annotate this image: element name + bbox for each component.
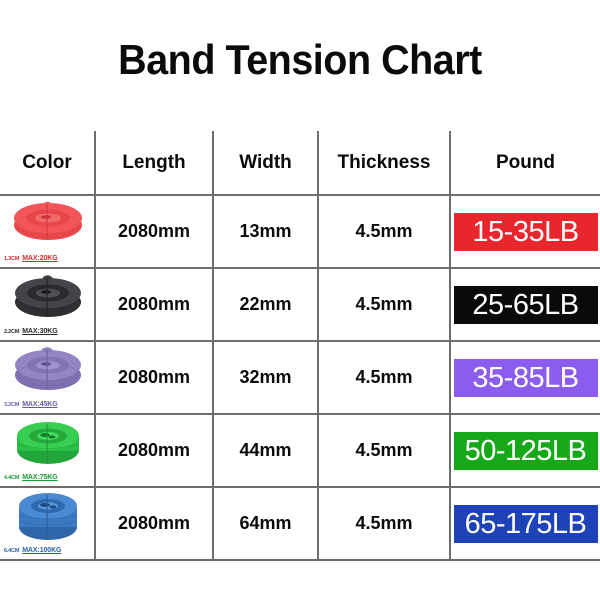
resistance-band-icon xyxy=(11,199,85,243)
table-row: 3.2CMMAX:45KG 2080mm 32mm 4.5mm 35-85LB xyxy=(0,341,600,414)
band-pound-cell: 65-175LB xyxy=(450,487,600,560)
column-header-color: Color xyxy=(0,131,95,195)
band-caption: 4.4CMMAX:75KG xyxy=(4,474,92,482)
band-thickness-cell: 4.5mm xyxy=(318,341,450,414)
band-length-cell: 2080mm xyxy=(95,195,213,268)
band-max-load: MAX:20KG xyxy=(22,255,57,262)
band-coil-image xyxy=(11,418,85,473)
band-pound-cell: 25-65LB xyxy=(450,268,600,341)
band-color-cell: 1.3CMMAX:20KG xyxy=(0,195,95,268)
band-caption: 1.3CMMAX:20KG xyxy=(4,255,92,263)
band-pound-cell: 50-125LB xyxy=(450,414,600,487)
band-width-cm: 4.4CM xyxy=(4,475,19,481)
band-width-cell: 64mm xyxy=(213,487,318,560)
band-caption: 6.4CMMAX:100KG xyxy=(4,547,92,555)
resistance-band-icon xyxy=(11,491,85,543)
band-coil-image xyxy=(11,345,85,398)
pound-badge: 50-125LB xyxy=(454,432,598,470)
band-color-cell: 3.2CMMAX:45KG xyxy=(0,341,95,414)
table-row: 6.4CMMAX:100KG 2080mm 64mm 4.5mm 65-175L… xyxy=(0,487,600,560)
band-tension-chart-page: Band Tension Chart Color Length Width Th… xyxy=(0,0,600,600)
resistance-band-icon xyxy=(11,345,85,393)
band-max-load: MAX:30KG xyxy=(22,328,57,335)
column-header-thickness: Thickness xyxy=(318,131,450,195)
band-width-cm: 3.2CM xyxy=(4,402,19,408)
table-row: 2.2CMMAX:30KG 2080mm 22mm 4.5mm 25-65LB xyxy=(0,268,600,341)
band-color-cell: 2.2CMMAX:30KG xyxy=(0,268,95,341)
band-color-cell: 4.4CMMAX:75KG xyxy=(0,414,95,487)
band-coil-image xyxy=(11,491,85,548)
band-length-cell: 2080mm xyxy=(95,268,213,341)
band-max-load: MAX:100KG xyxy=(22,547,61,554)
band-thickness-cell: 4.5mm xyxy=(318,195,450,268)
band-color-cell: 6.4CMMAX:100KG xyxy=(0,487,95,560)
band-width-cm: 6.4CM xyxy=(4,548,19,554)
column-header-length: Length xyxy=(95,131,213,195)
band-spec-table: Color Length Width Thickness Pound xyxy=(0,131,600,561)
band-length-cell: 2080mm xyxy=(95,341,213,414)
band-width-cell: 22mm xyxy=(213,268,318,341)
band-width-cm: 2.2CM xyxy=(4,329,19,335)
band-coil-image xyxy=(11,199,85,248)
band-caption: 3.2CMMAX:45KG xyxy=(4,401,92,409)
band-width-cell: 44mm xyxy=(213,414,318,487)
column-header-pound: Pound xyxy=(450,131,600,195)
pound-badge: 25-65LB xyxy=(454,286,598,324)
resistance-band-icon xyxy=(11,272,85,320)
pound-badge: 15-35LB xyxy=(454,213,598,251)
band-thickness-cell: 4.5mm xyxy=(318,487,450,560)
table-header-row: Color Length Width Thickness Pound xyxy=(0,131,600,195)
band-max-load: MAX:45KG xyxy=(22,401,57,408)
band-width-cm: 1.3CM xyxy=(4,256,19,262)
band-max-load: MAX:75KG xyxy=(22,474,57,481)
band-thickness-cell: 4.5mm xyxy=(318,414,450,487)
band-width-cell: 13mm xyxy=(213,195,318,268)
page-title: Band Tension Chart xyxy=(18,36,582,84)
band-thickness-cell: 4.5mm xyxy=(318,268,450,341)
band-coil-image xyxy=(11,272,85,325)
band-pound-cell: 35-85LB xyxy=(450,341,600,414)
column-header-width: Width xyxy=(213,131,318,195)
table-row: 4.4CMMAX:75KG 2080mm 44mm 4.5mm 50-125LB xyxy=(0,414,600,487)
resistance-band-icon xyxy=(11,418,85,468)
table-row: 1.3CMMAX:20KG 2080mm 13mm 4.5mm 15-35LB xyxy=(0,195,600,268)
band-pound-cell: 15-35LB xyxy=(450,195,600,268)
band-length-cell: 2080mm xyxy=(95,487,213,560)
pound-badge: 65-175LB xyxy=(454,505,598,543)
band-length-cell: 2080mm xyxy=(95,414,213,487)
pound-badge: 35-85LB xyxy=(454,359,598,397)
band-caption: 2.2CMMAX:30KG xyxy=(4,328,92,336)
band-width-cell: 32mm xyxy=(213,341,318,414)
